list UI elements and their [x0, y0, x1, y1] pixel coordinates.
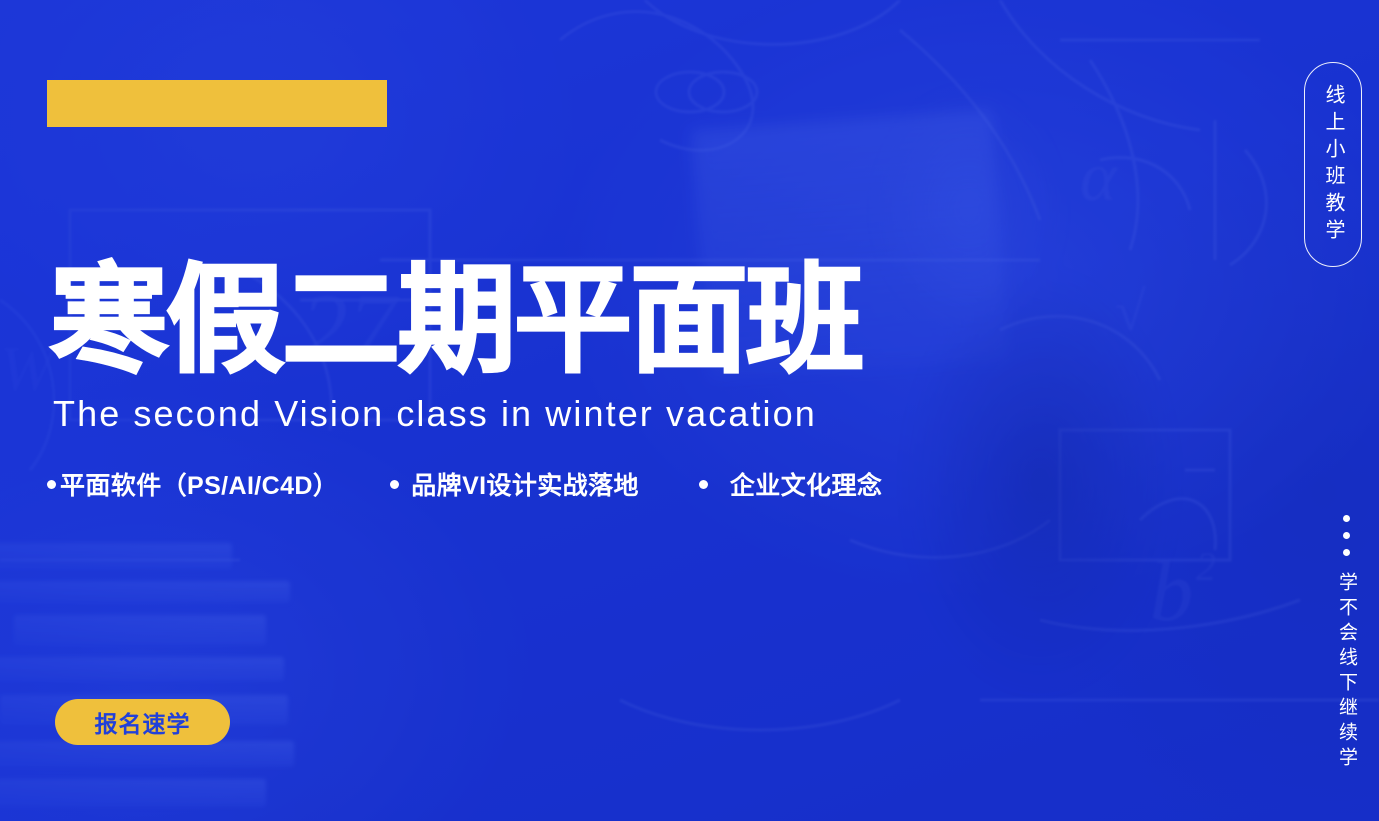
- enroll-button[interactable]: 报名速学: [55, 699, 230, 745]
- top-accent-bar: [47, 80, 387, 127]
- slogan-label: 学不会线下继续学: [1337, 572, 1356, 772]
- feature-item-software: 平面软件（PS/AI/C4D）: [47, 466, 338, 502]
- page-title: 寒假二期平面班: [50, 262, 862, 380]
- badge-label: 线上小班教学: [1323, 84, 1343, 246]
- feature-label: 平面软件（PS/AI/C4D）: [60, 466, 338, 502]
- guarantee-slogan: 学不会线下继续学: [1337, 515, 1356, 772]
- promo-poster: α b 2 27 √ W 寒假二期平面班 The second Vision c…: [0, 0, 1379, 821]
- online-class-badge: 线上小班教学: [1304, 62, 1362, 267]
- bullet-dot-icon: [699, 480, 708, 489]
- feature-label: 品牌VI设计实战落地: [411, 466, 639, 502]
- feature-label: 企业文化理念: [730, 466, 882, 502]
- feature-list: 平面软件（PS/AI/C4D） 品牌VI设计实战落地 企业文化理念: [47, 466, 882, 502]
- feature-item-brand-vi: 品牌VI设计实战落地: [390, 466, 639, 502]
- bullet-dot-icon: [47, 480, 56, 489]
- bullet-dot-icon: [390, 480, 399, 489]
- feature-item-culture: 企业文化理念: [699, 466, 882, 502]
- page-subtitle: The second Vision class in winter vacati…: [53, 394, 817, 434]
- vertical-dots-icon: [1343, 515, 1350, 556]
- poster-content: 寒假二期平面班 The second Vision class in winte…: [0, 0, 1379, 821]
